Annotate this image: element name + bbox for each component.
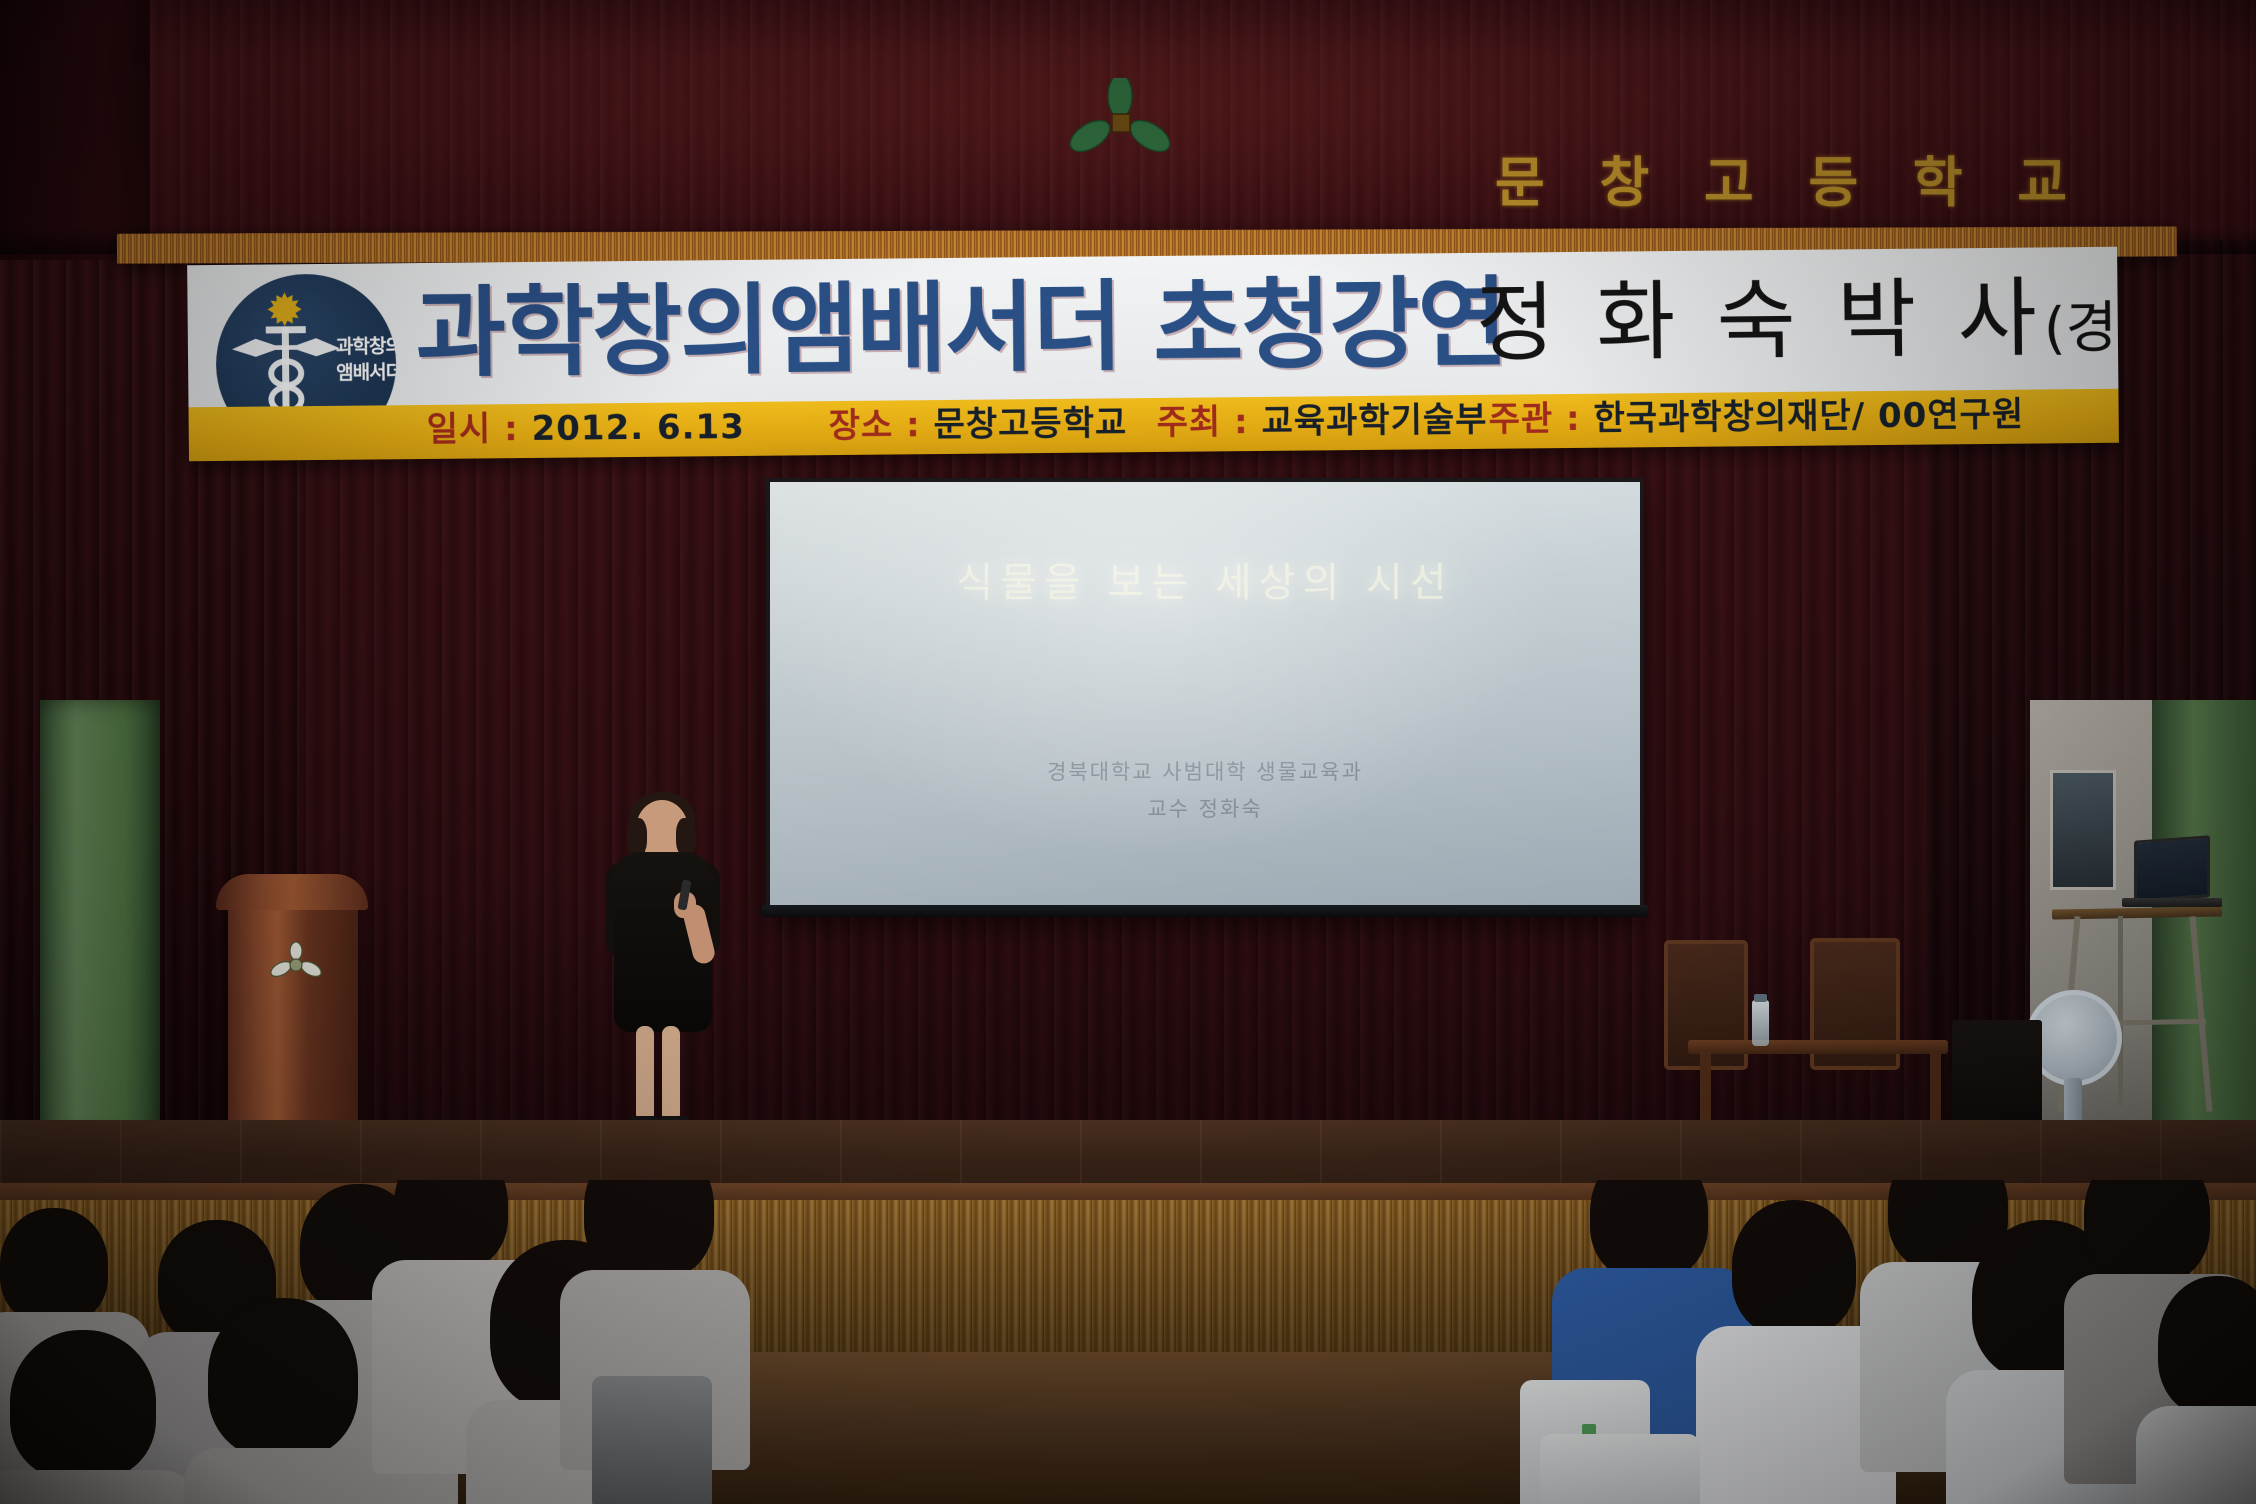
- slide-subtitle-line2: 교수 정화숙: [770, 791, 1640, 828]
- slide-subtitle: 경북대학교 사범대학 생물교육과 교수 정화숙: [770, 754, 1640, 828]
- podium-top: [216, 874, 368, 910]
- projection-screen: 식물을 보는 세상의 시선 경북대학교 사범대학 생물교육과 교수 정화숙: [770, 482, 1640, 912]
- audience-head: [2158, 1276, 2256, 1416]
- laptop-screen: [2134, 835, 2210, 902]
- banner-info-place-label: 장소 :: [829, 405, 921, 446]
- slide-title: 식물을 보는 세상의 시선: [770, 550, 1640, 608]
- audience-head: [584, 1180, 714, 1280]
- projection-surface: 식물을 보는 세상의 시선 경북대학교 사범대학 생물교육과 교수 정화숙: [770, 482, 1640, 912]
- event-banner: 과학창의 앰배서더 과학창의앰배서더 초청강연 정 화 숙 박 사(경북대) 일…: [187, 237, 2119, 464]
- logo-text-line2: 앰배서더: [336, 359, 397, 386]
- audience-head: [208, 1298, 358, 1458]
- audience-head: [394, 1180, 508, 1270]
- presenter-person: [596, 800, 726, 1160]
- banner-info-date: 일시 : 2012. 6.13: [427, 410, 745, 447]
- audience-head: [2084, 1180, 2210, 1284]
- audience-chair: [1540, 1434, 1700, 1504]
- banner-body: 과학창의 앰배서더 과학창의앰배서더 초청강연 정 화 숙 박 사(경북대) 일…: [187, 247, 2119, 462]
- window-right: [2050, 770, 2116, 890]
- presenter-hair-side-left: [627, 818, 647, 856]
- water-bottle-cap: [1754, 994, 1767, 1002]
- podium: [228, 890, 358, 1148]
- banner-info-host: 주최 : 교육과학기술부: [1157, 403, 1488, 440]
- banner-info-place: 장소 : 문창고등학교: [829, 406, 1128, 443]
- banner-info-date-label: 일시 :: [427, 409, 519, 450]
- banner-info-organizer: 주관 : 한국과학창의재단/ 00연구원: [1489, 398, 2025, 437]
- banner-info-place-value: 문창고등학교: [933, 403, 1127, 445]
- podium-crest-icon: [270, 942, 322, 984]
- laptop-base: [2122, 898, 2222, 907]
- leaf-emblem-icon: [1060, 78, 1180, 178]
- sunburst-icon: [267, 292, 301, 326]
- audience-chair: [592, 1376, 712, 1504]
- proscenium-arch-left: [0, 0, 150, 260]
- logo-ring-2: [268, 384, 304, 407]
- water-bottle: [1752, 1000, 1769, 1046]
- banner-info-host-label: 주최 :: [1157, 402, 1249, 443]
- audience-body: [2136, 1406, 2256, 1504]
- audience-head: [1732, 1200, 1856, 1336]
- banner-info-host-value: 교육과학기술부: [1261, 400, 1487, 442]
- banner-speaker-name: 정 화 숙 박 사(경북대): [1475, 274, 2118, 367]
- audience-area: [0, 1180, 2256, 1504]
- banner-title: 과학창의앰배서더 초청강연: [415, 275, 1506, 383]
- photo-canvas: 문 창 고 등 학 교 과학창의 앰배서더: [0, 0, 2256, 1504]
- green-door-left: [40, 700, 160, 1140]
- audience-head: [0, 1208, 108, 1324]
- banner-white-section: 과학창의 앰배서더 과학창의앰배서더 초청강연 정 화 숙 박 사(경북대): [187, 247, 2118, 408]
- banner-info-date-value: 2012. 6.13: [531, 407, 745, 449]
- science-ambassador-logo-icon: 과학창의 앰배서더: [215, 273, 397, 407]
- audience-head: [1590, 1180, 1708, 1280]
- audience-body: [184, 1448, 394, 1504]
- presenter-hair-side-right: [676, 818, 696, 856]
- audience-head: [10, 1330, 156, 1480]
- projection-screen-bottom-bar: [762, 905, 1648, 917]
- banner-info-organizer-label: 주관 :: [1488, 399, 1580, 440]
- slide-subtitle-line1: 경북대학교 사범대학 생물교육과: [770, 754, 1640, 791]
- logo-text-line1: 과학창의: [336, 333, 397, 360]
- stage-low-table-top: [1688, 1040, 1948, 1054]
- av-cart-leg-mid: [2118, 916, 2123, 1106]
- curtain-school-name: 문 창 고 등 학 교: [1495, 138, 2085, 217]
- logo-text: 과학창의 앰배서더: [336, 333, 397, 386]
- speaker-affiliation-text: (경북대): [2043, 295, 2118, 362]
- presenter-leg-left: [636, 1026, 654, 1122]
- banner-info-organizer-value: 한국과학창의재단/ 00연구원: [1593, 395, 2024, 439]
- presenter-leg-right: [662, 1026, 680, 1122]
- audience-body: [0, 1470, 196, 1504]
- speaker-name-text: 정 화 숙 박 사: [1475, 268, 2044, 373]
